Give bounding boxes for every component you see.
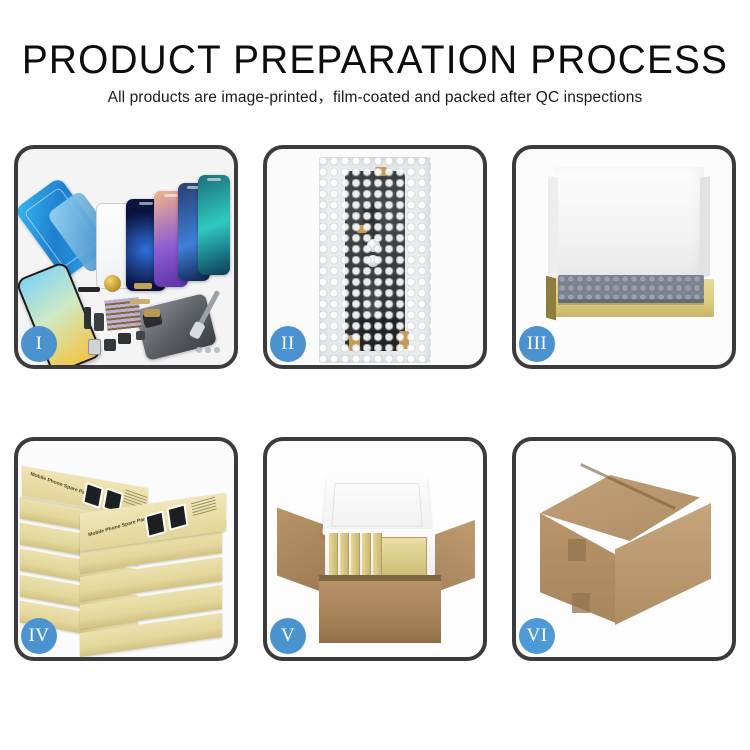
carton-tape-icon [572,593,590,613]
carton-body-icon [319,581,441,643]
spare-part-icon [78,287,100,292]
phone-notch-icon [139,202,153,205]
step-panel-6: VI [512,437,736,661]
phone-display-d-icon [198,175,230,275]
spare-part-icon [88,339,101,355]
white-foam-sheet-icon [554,167,704,285]
step-badge-2: II [270,326,306,362]
spare-part-icon [136,331,145,340]
foam-box-lid-icon [322,476,432,535]
spare-part-icon [134,283,152,289]
box-label-lines [191,497,217,518]
header: PRODUCT PREPARATION PROCESS All products… [0,38,750,108]
spare-part-icon [130,299,150,304]
step-panel-1: I [14,145,238,369]
step-panel-4: Mobile Phone Spare Parts Mobile Phone Sp… [14,437,238,661]
step-panel-2: II [263,145,487,369]
product-preparation-infographic: PRODUCT PREPARATION PROCESS All products… [0,0,750,750]
tray-shadow [558,299,704,305]
page-title: PRODUCT PREPARATION PROCESS [11,38,739,82]
box-label-phone-image [82,482,104,509]
bubble-wrap-bag-icon [319,157,431,363]
page-subtitle: All products are image-printed，film-coat… [0,88,750,108]
step-badge-3: III [519,326,555,362]
step-badge-6: VI [519,618,555,654]
spare-part-icon [118,333,131,344]
spare-part-icon [104,339,116,351]
box-label-phone-image [144,510,166,538]
kraft-boxes-inside-icon [329,533,431,579]
phone-notch-icon [207,178,221,181]
step-panel-5: V [263,437,487,661]
box-label-text: Mobile Phone Spare Parts [30,471,92,498]
kraft-box-side-icon [546,276,556,321]
box-label-text: Mobile Phone Spare Parts [88,515,150,538]
step-panel-3: III [512,145,736,369]
gold-component-icon [104,275,121,292]
phone-notch-icon [164,194,178,197]
spare-part-icon [94,313,104,331]
step-badge-5: V [270,618,306,654]
spare-part-icon [84,307,91,329]
step-badge-4: IV [21,618,57,654]
screws-icon [196,345,222,355]
bubble-texture-icon [319,157,431,363]
step-badge-1: I [21,326,57,362]
carton-tape-icon [568,539,586,561]
spare-part-icon [144,309,160,317]
steps-grid: I II [14,145,736,685]
box-label-phone-image [166,503,188,531]
